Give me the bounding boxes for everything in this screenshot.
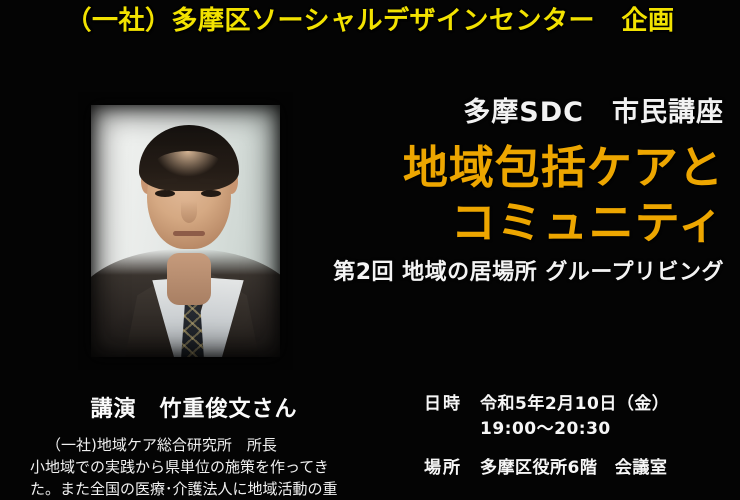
- title-block: 多摩SDC 市民講座 地域包括ケアと コミュニティ 第2回 地域の居場所 グルー…: [328, 96, 724, 288]
- portrait-frame: [78, 92, 293, 370]
- speaker-block: 講演 竹重俊文さん （一社)地域ケア総合研究所 所長 小地域での実践から県単位の…: [24, 396, 364, 500]
- event-details: 日時 令和5年2月10日（金） 19:00〜20:30 場所 多摩区役所6階 会…: [424, 392, 724, 481]
- speaker-bio: （一社)地域ケア総合研究所 所長 小地域での実践から県単位の施策を作ってき た。…: [24, 434, 364, 500]
- portrait-eye-left: [155, 190, 175, 197]
- speaker-portrait-photo: [78, 92, 293, 370]
- main-title-line-2: コミュニティ: [328, 195, 724, 250]
- speaker-bio-line: 小地域での実践から県単位の施策を作ってき: [30, 456, 364, 478]
- speaker-bio-line: た。また全国の医療･介護法人に地域活動の重: [30, 478, 364, 500]
- event-place-row: 場所 多摩区役所6階 会議室: [424, 456, 724, 481]
- place-label: 場所: [424, 456, 480, 481]
- series-kicker: 多摩SDC 市民講座: [328, 96, 724, 130]
- session-subtitle: 第2回 地域の居場所 グループリビング: [328, 258, 724, 288]
- poster-canvas: （一社）多摩区ソーシャルデザインセンター 企画: [0, 0, 740, 500]
- portrait-neck: [167, 253, 211, 305]
- main-title-line-1: 地域包括ケアと: [328, 140, 724, 195]
- date-label: 日時: [424, 392, 480, 417]
- place-value: 多摩区役所6階 会議室: [480, 456, 667, 481]
- event-date-row: 日時 令和5年2月10日（金）: [424, 392, 724, 417]
- speaker-name: 講演 竹重俊文さん: [24, 396, 364, 424]
- portrait-mouth: [173, 231, 205, 236]
- time-value: 19:00〜20:30: [480, 417, 724, 442]
- organizer-banner: （一社）多摩区ソーシャルデザインセンター 企画: [0, 4, 740, 38]
- portrait-nose: [181, 201, 197, 223]
- date-value: 令和5年2月10日（金）: [480, 392, 669, 417]
- portrait-eye-right: [201, 190, 221, 197]
- portrait-image: [91, 105, 280, 357]
- speaker-bio-line: （一社)地域ケア総合研究所 所長: [30, 434, 364, 456]
